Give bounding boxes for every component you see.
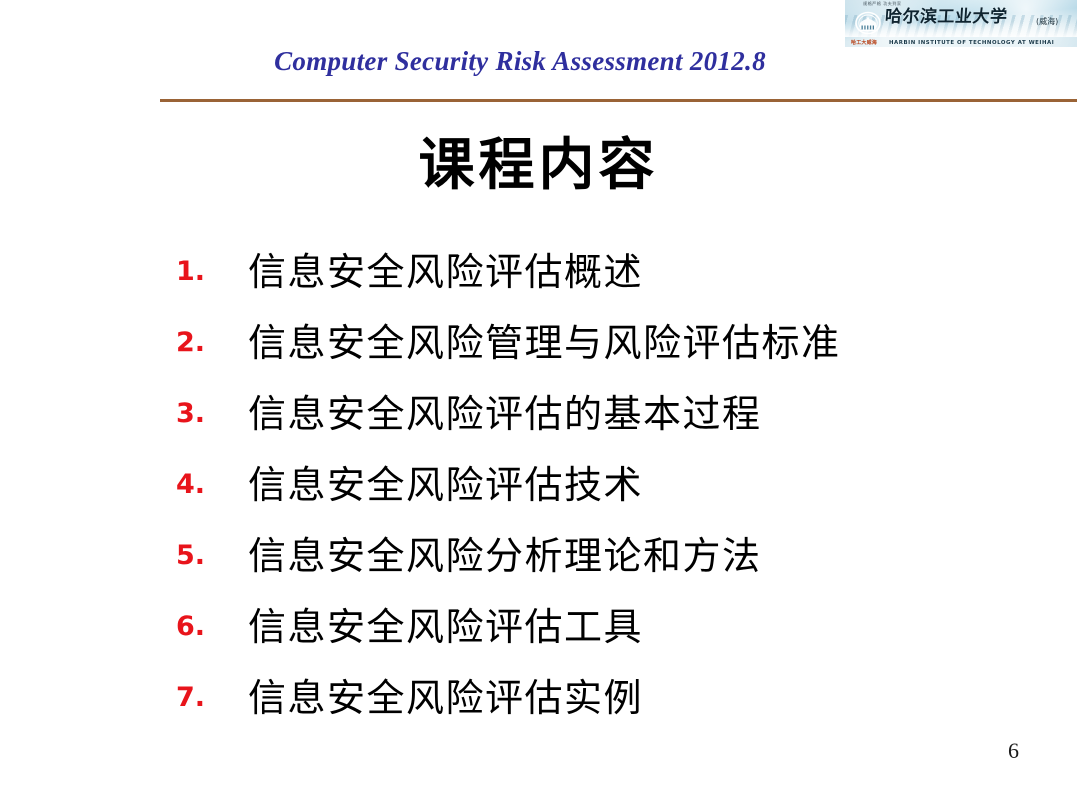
list-item-label: 信息安全风险评估概述 (248, 248, 1012, 296)
list-item-label: 信息安全风险评估技术 (248, 461, 1012, 509)
page-title: 课程内容 (0, 133, 1077, 199)
list-item: 3. 信息安全风险评估的基本过程 (172, 390, 1012, 461)
list-item-number: 5. (172, 532, 248, 580)
header-divider-rule (160, 99, 1077, 102)
list-item-label: 信息安全风险管理与风险评估标准 (248, 319, 1012, 367)
logo-campus-name-cn: (威海) (1036, 16, 1058, 27)
logo-university-name-cn: 哈尔滨工业大学 (884, 8, 1008, 27)
list-item-label: 信息安全风险分析理论和方法 (248, 532, 1012, 580)
list-item-number: 4. (172, 461, 248, 509)
list-item-label: 信息安全风险评估的基本过程 (248, 390, 1012, 438)
slide-canvas: 规格严格 功夫到家 哈尔滨工业大学 (威海) 哈工大威海 HARBIN INST… (0, 0, 1077, 805)
list-item: 6. 信息安全风险评估工具 (172, 603, 1012, 674)
list-item: 5. 信息安全风险分析理论和方法 (172, 532, 1012, 603)
list-item: 2. 信息安全风险管理与风险评估标准 (172, 319, 1012, 390)
list-item-number: 1. (172, 248, 248, 296)
hit-emblem-icon (855, 11, 881, 35)
running-header-title: Computer Security Risk Assessment 2012.8 (0, 44, 1040, 78)
page-number: 6 (1008, 738, 1019, 764)
list-item: 4. 信息安全风险评估技术 (172, 461, 1012, 532)
list-item-number: 3. (172, 390, 248, 438)
list-item-label: 信息安全风险评估工具 (248, 603, 1012, 651)
course-content-list: 1. 信息安全风险评估概述 2. 信息安全风险管理与风险评估标准 3. 信息安全… (172, 248, 1012, 745)
list-item-number: 6. (172, 603, 248, 651)
university-logo-banner: 规格严格 功夫到家 哈尔滨工业大学 (威海) 哈工大威海 HARBIN INST… (845, 0, 1077, 47)
list-item-label: 信息安全风险评估实例 (248, 674, 1012, 722)
list-item-number: 2. (172, 319, 248, 367)
list-item-number: 7. (172, 674, 248, 722)
list-item: 7. 信息安全风险评估实例 (172, 674, 1012, 745)
list-item: 1. 信息安全风险评估概述 (172, 248, 1012, 319)
